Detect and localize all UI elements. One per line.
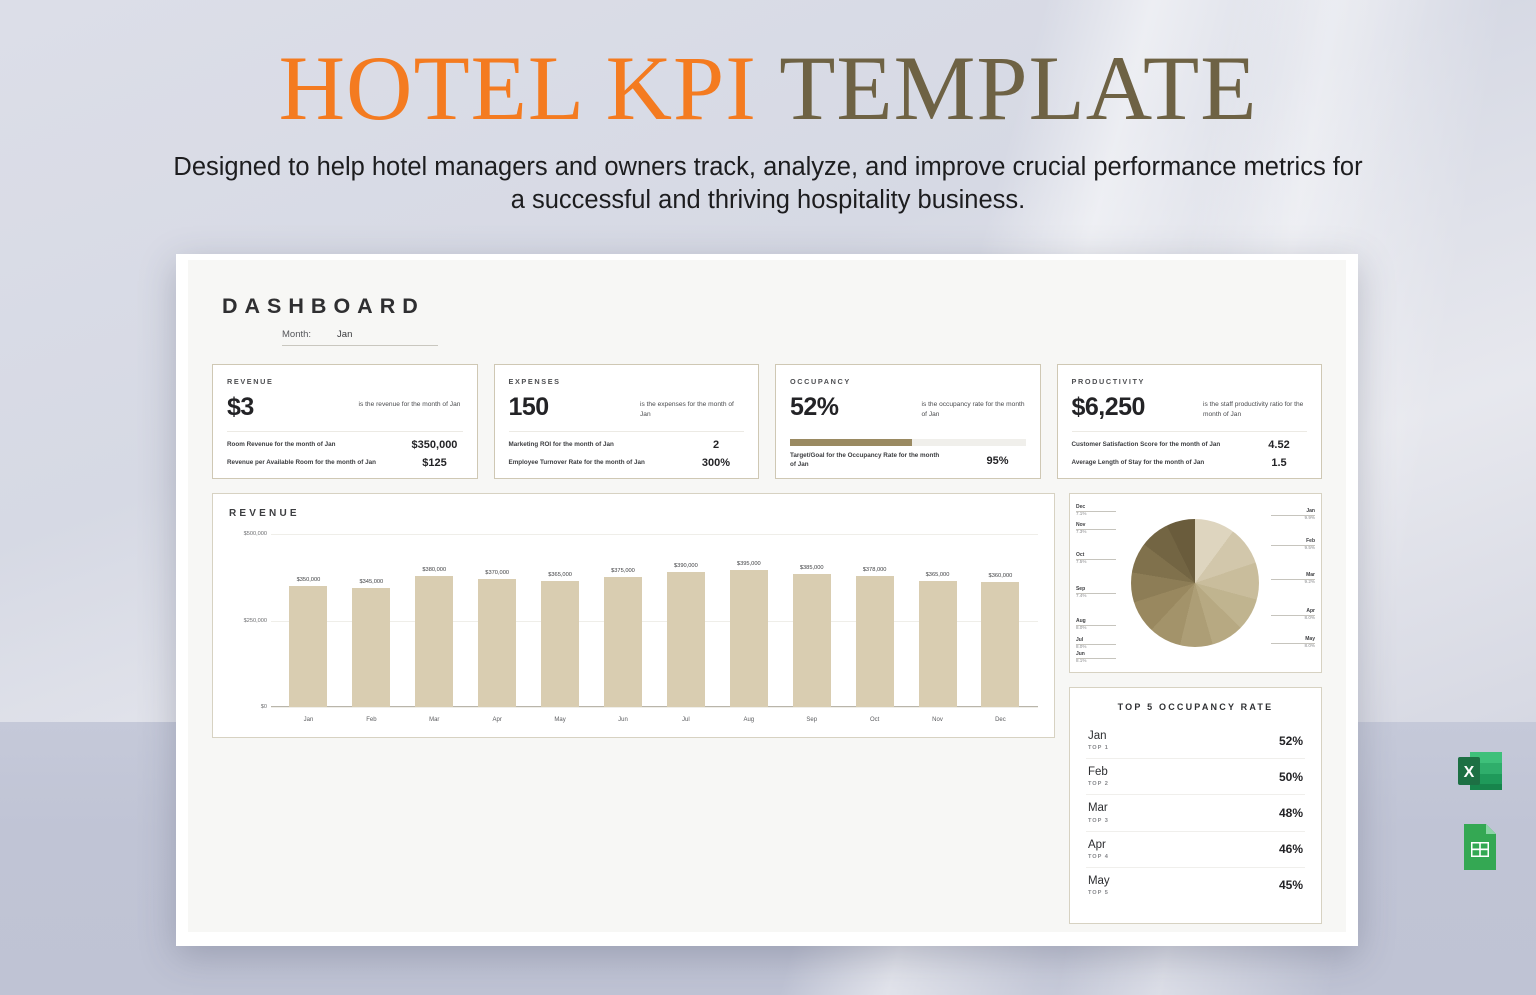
bar-value-label: $365,000 <box>926 572 950 578</box>
leader-line <box>1076 644 1116 645</box>
bar-column: $370,000Apr <box>466 534 529 707</box>
pie-label-name: Aug <box>1076 618 1086 625</box>
bar-value-label: $380,000 <box>422 567 446 573</box>
dashboard-header: DASHBOARD Month: Jan <box>188 260 1346 346</box>
pie-label-name: Oct <box>1076 552 1086 559</box>
bar <box>919 581 957 707</box>
occupancy-progress-track <box>790 439 1026 446</box>
x-axis-tick: Dec <box>995 717 1006 723</box>
kpi-category: EXPENSES <box>509 377 745 386</box>
bar <box>730 570 768 707</box>
kpi-subrow-label: Customer Satisfaction Score for the mont… <box>1072 441 1221 450</box>
bar-column: $380,000Mar <box>403 534 466 707</box>
kpi-card-occupancy: OCCUPANCY 52% is the occupancy rate for … <box>775 364 1041 479</box>
kpi-subrow: Average Length of Stay for the month of … <box>1072 457 1308 469</box>
revenue-chart-panel: REVENUE $500,000$250,000$0$350,000Jan$34… <box>212 493 1055 738</box>
leader-line <box>1271 615 1315 616</box>
bar <box>667 572 705 707</box>
kpi-value: 150 <box>509 395 549 420</box>
app-icon-group: X <box>1456 748 1504 872</box>
top5-value: 50% <box>1279 770 1303 784</box>
kpi-subrow-label: Room Revenue for the month of Jan <box>227 441 335 450</box>
top5-value: 46% <box>1279 842 1303 856</box>
y-axis-tick: $500,000 <box>215 531 267 537</box>
x-axis-tick: Apr <box>493 717 502 723</box>
leader-line <box>1076 559 1116 560</box>
kpi-category: REVENUE <box>227 377 463 386</box>
top5-value: 48% <box>1279 806 1303 820</box>
kpi-main: 150 is the expenses for the month of Jan <box>509 395 745 420</box>
kpi-description: is the expenses for the month of Jan <box>640 400 744 420</box>
top5-rank: TOP 5 <box>1088 890 1110 896</box>
kpi-subrow-label: Target/Goal for the Occupancy Rate for t… <box>790 452 940 470</box>
bar-column: $345,000Feb <box>340 534 403 707</box>
dashboard-title: DASHBOARD <box>222 294 1346 319</box>
x-axis-tick: Aug <box>743 717 754 723</box>
kpi-subrow: Target/Goal for the Occupancy Rate for t… <box>790 452 1026 470</box>
leader-line <box>1271 545 1315 546</box>
pie-label-name: Jun <box>1076 651 1086 658</box>
kpi-subrow-label: Average Length of Stay for the month of … <box>1072 459 1205 468</box>
top5-month-block: Jan TOP 1 <box>1088 730 1109 751</box>
kpi-card-productivity: PRODUCTIVITY $6,250 is the staff product… <box>1057 364 1323 479</box>
top5-month: Apr <box>1088 839 1109 852</box>
leader-line <box>1076 658 1116 659</box>
bar-column: $360,000Dec <box>969 534 1032 707</box>
bar-value-label: $360,000 <box>989 573 1013 579</box>
dashboard-screen: DASHBOARD Month: Jan REVENUE $3 is the r… <box>188 260 1346 932</box>
revenue-share-pie-panel: Jan9.9%Feb9.5%Mar9.2%Apr8.0%May8.0%Dec7.… <box>1069 493 1322 673</box>
bar-column: $390,000Jul <box>654 534 717 707</box>
bar-column: $365,000Nov <box>906 534 969 707</box>
bar <box>478 579 516 707</box>
right-column: Jan9.9%Feb9.5%Mar9.2%Apr8.0%May8.0%Dec7.… <box>1069 493 1322 924</box>
kpi-card-row: REVENUE $3 is the revenue for the month … <box>188 346 1346 479</box>
excel-icon[interactable]: X <box>1456 748 1504 798</box>
title-highlight: HOTEL KPI <box>279 37 757 139</box>
kpi-main: $3 is the revenue for the month of Jan <box>227 395 463 420</box>
charts-mid-row: REVENUE $500,000$250,000$0$350,000Jan$34… <box>188 479 1346 924</box>
bar-value-label: $390,000 <box>674 563 698 569</box>
x-axis-tick: May <box>554 717 565 723</box>
top5-row: Jan TOP 152% <box>1086 723 1305 759</box>
x-axis-tick: Sep <box>806 717 817 723</box>
bar <box>604 577 642 707</box>
pie-label-name: Apr <box>1305 608 1315 615</box>
kpi-description: is the staff productivity ratio for the … <box>1203 400 1307 420</box>
top5-row: Apr TOP 446% <box>1086 832 1305 868</box>
leader-line <box>1076 625 1116 626</box>
kpi-subsection: Customer Satisfaction Score for the mont… <box>1072 431 1308 469</box>
kpi-subrow: Employee Turnover Rate for the month of … <box>509 457 745 469</box>
month-label: Month: <box>282 329 311 340</box>
hero-subtitle: Designed to help hotel managers and owne… <box>168 151 1368 217</box>
kpi-subrow: Revenue per Available Room for the month… <box>227 457 463 469</box>
kpi-subsection: Room Revenue for the month of Jan$350,00… <box>227 431 463 469</box>
occupancy-progress-fill <box>790 439 912 446</box>
x-axis-tick: Jun <box>618 717 628 723</box>
kpi-subrow-value: 4.52 <box>1251 439 1307 451</box>
leader-line <box>1271 515 1315 516</box>
kpi-subrow-value: 1.5 <box>1251 457 1307 469</box>
kpi-card-expenses: EXPENSES 150 is the expenses for the mon… <box>494 364 760 479</box>
kpi-description: is the revenue for the month of Jan <box>359 400 463 410</box>
top5-row: May TOP 545% <box>1086 868 1305 903</box>
pie-label-name: Dec <box>1076 504 1086 511</box>
bar-column: $395,000Aug <box>717 534 780 707</box>
bar-value-label: $375,000 <box>611 568 635 574</box>
x-axis-tick: Jul <box>682 717 690 723</box>
leader-line <box>1271 643 1315 644</box>
pie-label-name: Jul <box>1076 637 1086 644</box>
bar-value-label: $378,000 <box>863 567 887 573</box>
pie-label-name: Sep <box>1076 586 1086 593</box>
x-axis-tick: Nov <box>932 717 943 723</box>
kpi-subrow-label: Marketing ROI for the month of Jan <box>509 441 614 450</box>
kpi-subrow-label: Revenue per Available Room for the month… <box>227 459 376 468</box>
y-axis-tick: $0 <box>215 704 267 710</box>
pie-label-name: Jan <box>1305 508 1315 515</box>
page-title: HOTEL KPI TEMPLATE <box>0 40 1536 137</box>
bar <box>289 586 327 707</box>
leader-line <box>1076 529 1116 530</box>
kpi-subrow-value: $125 <box>407 457 463 469</box>
kpi-main: 52% is the occupancy rate for the month … <box>790 395 1026 420</box>
bar-value-label: $365,000 <box>548 572 572 578</box>
title-secondary: TEMPLATE <box>779 37 1257 139</box>
bar <box>415 576 453 707</box>
y-axis-tick: $250,000 <box>215 618 267 624</box>
bar <box>352 588 390 707</box>
top5-month-block: Mar TOP 3 <box>1088 802 1109 823</box>
bar <box>981 582 1019 707</box>
top5-month: May <box>1088 875 1110 888</box>
top5-month: Jan <box>1088 730 1109 743</box>
google-sheets-icon[interactable] <box>1458 822 1502 872</box>
pie-label-name: Feb <box>1305 538 1315 545</box>
bar-column: $375,000Jun <box>592 534 655 707</box>
revenue-chart-title: REVENUE <box>229 508 1038 519</box>
top5-title: TOP 5 OCCUPANCY RATE <box>1086 702 1305 712</box>
bar-column: $365,000May <box>529 534 592 707</box>
top5-rank: TOP 3 <box>1088 818 1109 824</box>
top5-month-block: Apr TOP 4 <box>1088 839 1109 860</box>
x-axis-tick: Feb <box>366 717 376 723</box>
hero-header: HOTEL KPI TEMPLATE Designed to help hote… <box>0 0 1536 217</box>
bar-column: $385,000Sep <box>780 534 843 707</box>
bar-value-label: $385,000 <box>800 565 824 571</box>
x-axis-tick: Jan <box>304 717 314 723</box>
bar-group: $350,000Jan$345,000Feb$380,000Mar$370,00… <box>271 534 1038 707</box>
top5-occupancy-panel: TOP 5 OCCUPANCY RATE Jan TOP 152% Feb TO… <box>1069 687 1322 924</box>
leader-line <box>1271 579 1315 580</box>
kpi-subrow: Room Revenue for the month of Jan$350,00… <box>227 439 463 451</box>
top5-month-block: Feb TOP 2 <box>1088 766 1109 787</box>
kpi-subrow: Customer Satisfaction Score for the mont… <box>1072 439 1308 451</box>
kpi-main: $6,250 is the staff productivity ratio f… <box>1072 395 1308 420</box>
kpi-value: $3 <box>227 395 254 420</box>
kpi-subrow-value: 300% <box>688 457 744 469</box>
bar-value-label: $345,000 <box>359 579 383 585</box>
pie-disc <box>1131 519 1259 647</box>
pie-label-name: Nov <box>1076 522 1086 529</box>
kpi-category: OCCUPANCY <box>790 377 1026 386</box>
pie-label-name: May <box>1305 636 1315 643</box>
kpi-category: PRODUCTIVITY <box>1072 377 1308 386</box>
month-value[interactable]: Jan <box>337 329 352 340</box>
kpi-subrow-label: Employee Turnover Rate for the month of … <box>509 459 645 468</box>
top5-list: Jan TOP 152% Feb TOP 250% Mar TOP 348% A… <box>1086 723 1305 903</box>
bar-value-label: $350,000 <box>297 577 321 583</box>
pie-label-name: Mar <box>1305 572 1315 579</box>
pie-chart <box>1131 519 1259 647</box>
top5-month: Feb <box>1088 766 1109 779</box>
dashboard-frame: DASHBOARD Month: Jan REVENUE $3 is the r… <box>176 254 1358 946</box>
kpi-value: $6,250 <box>1072 395 1145 420</box>
top5-month-block: May TOP 5 <box>1088 875 1110 896</box>
top5-value: 52% <box>1279 734 1303 748</box>
top5-row: Mar TOP 348% <box>1086 795 1305 831</box>
month-selector[interactable]: Month: Jan <box>282 329 438 346</box>
bar <box>541 581 579 707</box>
kpi-subrow-value: 95% <box>970 455 1026 467</box>
svg-text:X: X <box>1464 764 1475 781</box>
revenue-chart-plot: $500,000$250,000$0$350,000Jan$345,000Feb… <box>271 534 1038 707</box>
top5-rank: TOP 1 <box>1088 745 1109 751</box>
kpi-value: 52% <box>790 395 839 420</box>
bar-value-label: $395,000 <box>737 561 761 567</box>
top5-month: Mar <box>1088 802 1109 815</box>
gridline <box>271 707 1038 708</box>
kpi-subsection: Marketing ROI for the month of Jan2Emplo… <box>509 431 745 469</box>
x-axis-tick: Mar <box>429 717 439 723</box>
bar-column: $378,000Oct <box>843 534 906 707</box>
kpi-subsection: Target/Goal for the Occupancy Rate for t… <box>790 431 1026 470</box>
kpi-card-revenue: REVENUE $3 is the revenue for the month … <box>212 364 478 479</box>
kpi-subrow-value: $350,000 <box>407 439 463 451</box>
x-axis-tick: Oct <box>870 717 879 723</box>
leader-line <box>1076 511 1116 512</box>
kpi-subrow: Marketing ROI for the month of Jan2 <box>509 439 745 451</box>
kpi-description: is the occupancy rate for the month of J… <box>922 400 1026 420</box>
kpi-subrow-value: 2 <box>688 439 744 451</box>
top5-value: 45% <box>1279 878 1303 892</box>
bar-column: $350,000Jan <box>277 534 340 707</box>
bar <box>793 574 831 707</box>
top5-rank: TOP 2 <box>1088 781 1109 787</box>
top5-row: Feb TOP 250% <box>1086 759 1305 795</box>
bar-value-label: $370,000 <box>485 570 509 576</box>
charts-bottom-row: REVENUE vs. EXPENSES REVENUEEXPENSES Jan… <box>188 924 1346 932</box>
top5-rank: TOP 4 <box>1088 854 1109 860</box>
bar <box>856 576 894 707</box>
leader-line <box>1076 593 1116 594</box>
